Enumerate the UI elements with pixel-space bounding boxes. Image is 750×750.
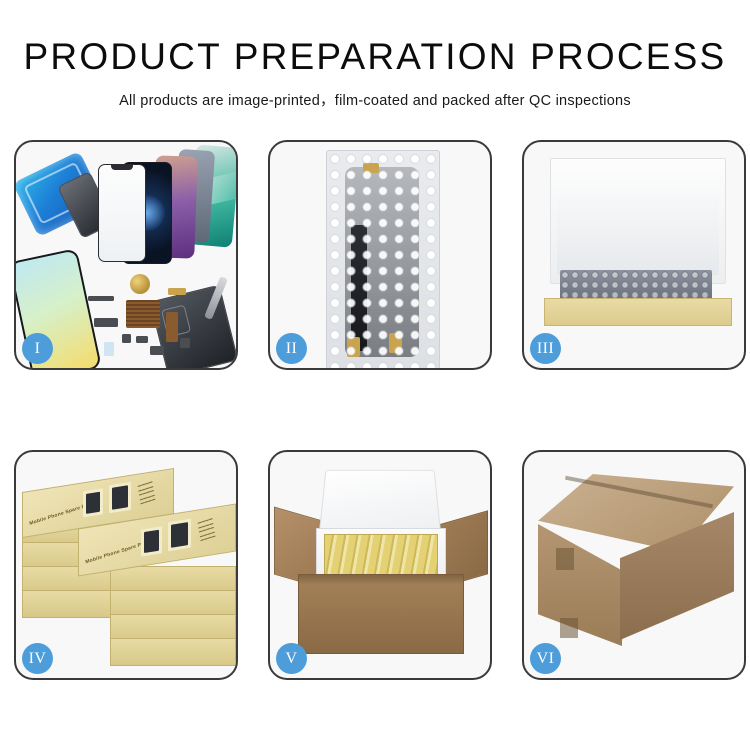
step-5-image: [270, 452, 490, 678]
gold-connector-icon: [347, 337, 360, 357]
gold-tab-icon: [363, 163, 379, 173]
bubble-wrap-bag-icon: [326, 150, 440, 368]
gray-bubble-wrapped-items-icon: [560, 270, 712, 300]
carton-left-face-icon: [538, 524, 622, 646]
page-subtitle: All products are image-printed，film-coat…: [0, 89, 750, 110]
carton-tab-icon: [560, 618, 578, 638]
process-step-panel-6: VI: [522, 450, 746, 680]
label-specs-text: ▬▬▬▬▬▬▬▬▬▬▬▬▬▬▬▬▬▬▬▬: [137, 479, 156, 506]
process-step-panel-3: III: [522, 140, 746, 370]
gold-coil-icon: [130, 274, 150, 294]
page-header: PRODUCT PREPARATION PROCESS All products…: [0, 0, 750, 110]
label-image-frame: [109, 482, 131, 513]
step-3-image: [524, 142, 744, 368]
gold-connector-icon: [389, 333, 402, 353]
open-carton-body-icon: [298, 574, 464, 654]
label-image-frame: [83, 488, 103, 517]
part-chip-icon: [122, 334, 131, 343]
carton-tab-icon: [556, 548, 574, 570]
step-4-image: Mobile Phone Spare Parts ▬▬▬▬▬▬▬▬▬▬▬▬▬▬▬…: [16, 452, 236, 678]
label-specs-text: ▬▬▬▬▬▬▬▬▬▬▬▬▬▬▬▬▬▬▬▬: [197, 516, 216, 543]
part-flex-icon: [166, 312, 178, 342]
step-2-image: [270, 142, 490, 368]
label-phone-image: [112, 485, 128, 510]
step-badge-6: VI: [530, 643, 561, 674]
page-title: PRODUCT PREPARATION PROCESS: [0, 38, 750, 75]
process-step-panel-5: V: [268, 450, 492, 680]
step-badge-5: V: [276, 643, 307, 674]
part-lens-icon: [104, 342, 114, 356]
step-badge-3: III: [530, 333, 561, 364]
preparation-process-page: PRODUCT PREPARATION PROCESS All products…: [0, 0, 750, 750]
part-connector-icon: [168, 288, 186, 295]
label-phone-image: [171, 522, 188, 548]
process-step-panel-4: Mobile Phone Spare Parts ▬▬▬▬▬▬▬▬▬▬▬▬▬▬▬…: [14, 450, 238, 680]
part-bracket-icon: [94, 318, 118, 327]
tempered-glass-screen-icon: [98, 164, 146, 262]
label-phone-image: [86, 492, 100, 514]
part-screw-icon: [136, 336, 148, 343]
process-step-panel-2: II: [268, 140, 492, 370]
process-step-panel-1: I: [14, 140, 238, 370]
circuit-board-icon: [126, 300, 160, 328]
step-1-image: [16, 142, 236, 368]
step-6-image: [524, 452, 744, 678]
step-badge-4: IV: [22, 643, 53, 674]
small-repair-parts-group: [88, 272, 208, 368]
white-foam-lid-icon: [550, 158, 726, 284]
kraft-box-side: [22, 590, 120, 618]
kraft-tray-front-panel: [544, 298, 732, 326]
part-speaker-icon: [180, 338, 190, 348]
part-button-icon: [150, 346, 164, 355]
process-steps-grid: I II III: [14, 140, 746, 680]
flex-cable-icon: [351, 225, 367, 351]
stacked-kraft-boxes-group: Mobile Phone Spare Parts ▬▬▬▬▬▬▬▬▬▬▬▬▬▬▬…: [20, 466, 236, 672]
label-image-frame: [168, 519, 191, 552]
label-image-frame: [141, 526, 162, 556]
step-badge-1: I: [22, 333, 53, 364]
label-phone-image: [144, 530, 159, 553]
step-badge-2: II: [276, 333, 307, 364]
part-strip-icon: [88, 296, 114, 301]
kraft-box-side: [110, 638, 236, 666]
